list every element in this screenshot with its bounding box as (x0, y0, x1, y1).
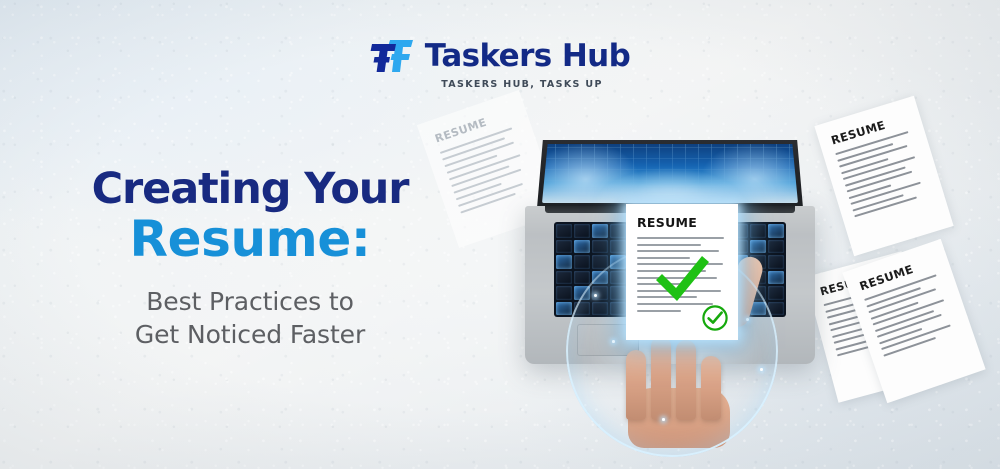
sparkle-dot (746, 318, 749, 321)
laptop-lid (537, 140, 803, 208)
headline-line-2: Resume: (0, 213, 500, 266)
sparkle-dot (612, 340, 615, 343)
laptop-screen (542, 144, 798, 203)
sparkle-dot (594, 294, 597, 297)
brand-tagline: TASKERS HUB, TASKS UP (441, 79, 603, 90)
sparkle-dot (760, 368, 763, 371)
green-check-circle-icon (701, 304, 729, 332)
subheadline-block: Best Practices to Get Noticed Faster (0, 285, 500, 351)
logo-row: Taskers Hub (370, 38, 630, 74)
sparkle-dot (662, 418, 665, 421)
taskers-hub-monogram-icon (370, 38, 414, 74)
resume-paper-right-top: RESUME (814, 96, 953, 256)
resume-blog-banner: RESUME RESUME RESUME RESU (0, 0, 1000, 469)
subheadline-line-2: Get Noticed Faster (0, 318, 500, 351)
resume-document-title: RESUME (637, 215, 728, 230)
subheadline-line-1: Best Practices to (0, 285, 500, 318)
brand-name: Taskers Hub (425, 41, 630, 72)
green-check-icon (652, 250, 712, 308)
headline-line-1: Creating Your (0, 168, 500, 211)
brand-logo[interactable]: Taskers Hub TASKERS HUB, TASKS UP (0, 38, 1000, 90)
resume-document: RESUME (626, 204, 738, 340)
screen-grid-pattern (542, 144, 798, 203)
headline-block: Creating Your Resume: Best Practices to … (0, 168, 500, 351)
